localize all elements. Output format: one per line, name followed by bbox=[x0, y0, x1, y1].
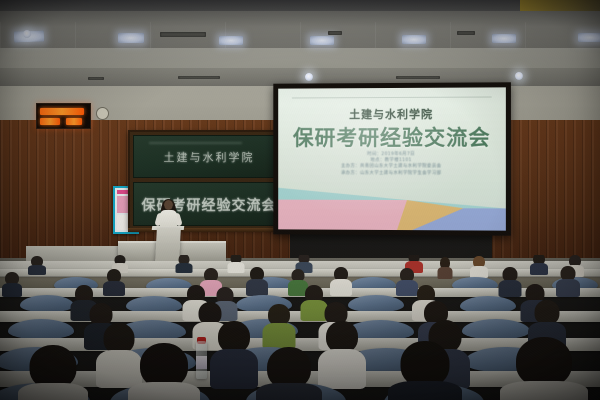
person-torso bbox=[318, 349, 366, 389]
audience-person bbox=[318, 321, 366, 385]
chair-back bbox=[20, 295, 74, 312]
audience-person bbox=[227, 255, 244, 271]
ceiling-light-7 bbox=[492, 34, 516, 43]
audience-person bbox=[256, 347, 322, 400]
person-torso bbox=[210, 349, 258, 389]
wall-clock-icon bbox=[96, 107, 109, 120]
blackboard-panel-upper: 土建与水利学院 bbox=[133, 135, 285, 178]
person-torso bbox=[437, 267, 452, 279]
person-torso bbox=[556, 279, 580, 297]
audience-person bbox=[2, 272, 22, 296]
audience-person bbox=[500, 337, 588, 400]
ceiling-light-10 bbox=[515, 72, 523, 80]
projection-screen: 土建与水利学院 保研考研经验交流会 时间：2019年6月7日 地点：教学楼110… bbox=[273, 82, 511, 235]
audience-person bbox=[128, 343, 200, 400]
person-torso bbox=[28, 265, 46, 275]
slide-meta-line-4: 承办方：山东大学土建与水利学院学生会学习部 bbox=[278, 171, 506, 177]
ceiling-light-3 bbox=[118, 33, 144, 43]
slide-meta-block: 时间：2019年6月7日 地点：教学楼1101 主办方：共青团山东大学土建与水利… bbox=[278, 152, 506, 177]
audience-person bbox=[498, 267, 521, 296]
person-torso bbox=[262, 323, 295, 349]
audience-person bbox=[103, 269, 125, 295]
lecture-hall-photo: 土建与水利学院 保研考研经验交流会 土建与水利学院 保研考研经验交流会 时间：2… bbox=[0, 0, 600, 400]
person-torso bbox=[330, 279, 352, 296]
ceiling-light-5 bbox=[310, 36, 334, 45]
scrolling-led-marquee bbox=[36, 103, 91, 129]
slide-title: 保研考研经验交流会 bbox=[278, 122, 506, 152]
audience-person bbox=[437, 257, 452, 277]
slide-divider-line bbox=[292, 96, 492, 98]
blackboard: 土建与水利学院 保研考研经验交流会 bbox=[128, 130, 290, 230]
poster-block-3 bbox=[117, 215, 126, 230]
ceiling-light-8 bbox=[578, 33, 600, 42]
led-text-row-1 bbox=[40, 108, 84, 115]
ceiling-vent-3 bbox=[457, 31, 475, 35]
audience-person bbox=[470, 256, 488, 276]
led-text-row-2 bbox=[40, 118, 60, 125]
audience-area bbox=[0, 255, 600, 400]
audience-person bbox=[388, 341, 462, 400]
person-head bbox=[516, 337, 572, 387]
person-torso bbox=[227, 262, 244, 273]
ceiling-vent-5 bbox=[178, 76, 220, 79]
chair-back bbox=[8, 319, 74, 339]
ceiling-vent-1 bbox=[160, 32, 206, 37]
audience-person bbox=[330, 267, 352, 295]
person-torso bbox=[500, 381, 588, 400]
blackboard-text-upper: 土建与水利学院 bbox=[134, 149, 284, 165]
person-torso bbox=[18, 383, 88, 400]
presentation-slide: 土建与水利学院 保研考研经验交流会 时间：2019年6月7日 地点：教学楼110… bbox=[278, 87, 506, 230]
person-torso bbox=[103, 281, 125, 296]
chair-back bbox=[348, 295, 404, 312]
audience-person bbox=[210, 321, 258, 385]
ceiling-light-4 bbox=[219, 36, 243, 45]
person-torso bbox=[128, 382, 200, 400]
person-torso bbox=[175, 263, 192, 273]
person-torso bbox=[498, 280, 521, 297]
chair-back bbox=[462, 319, 530, 339]
ceiling-vent-2 bbox=[328, 31, 342, 35]
audience-person bbox=[28, 256, 46, 272]
chalk-smudge bbox=[149, 142, 242, 144]
ceiling-light-9 bbox=[305, 73, 313, 81]
person-torso bbox=[388, 381, 462, 400]
ceiling-soffit bbox=[0, 48, 600, 70]
ceiling-beam bbox=[0, 11, 600, 51]
person-torso bbox=[2, 283, 22, 297]
person-torso bbox=[256, 383, 322, 400]
person-torso bbox=[246, 279, 268, 296]
ceiling-light-6 bbox=[402, 35, 426, 44]
poster-block-1 bbox=[117, 196, 126, 213]
person-torso bbox=[530, 263, 548, 275]
audience-person bbox=[530, 255, 548, 273]
slide-color-bands bbox=[278, 178, 506, 231]
led-text-row-3 bbox=[66, 118, 82, 125]
audience-person bbox=[18, 345, 88, 400]
audience-person bbox=[175, 255, 192, 270]
ceiling-vent-6 bbox=[396, 76, 440, 79]
audience-person bbox=[262, 304, 295, 347]
ceiling-light-2 bbox=[23, 30, 31, 38]
slide-organization-line: 土建与水利学院 bbox=[278, 106, 506, 123]
ceiling-vent-4 bbox=[88, 77, 104, 80]
audience-person bbox=[246, 267, 268, 295]
audience-person bbox=[556, 266, 580, 296]
